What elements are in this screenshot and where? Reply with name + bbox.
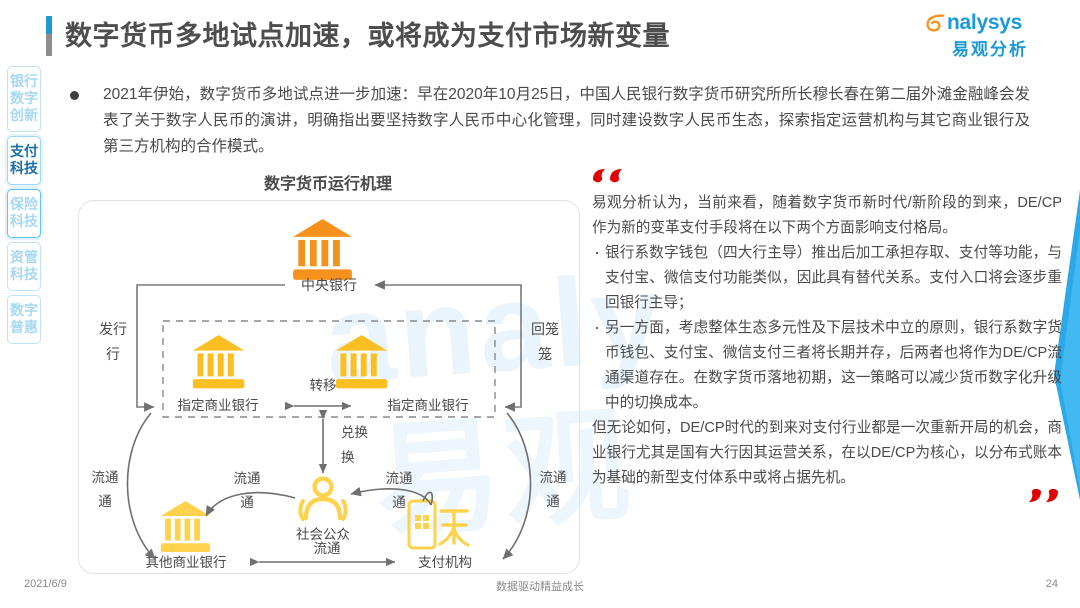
right-commentary-column: 易观分析认为，当前来看，随着数字货币新时代/新阶段的到来，DE/CP作为新的变革… <box>592 168 1062 510</box>
edge-label-issue: 发行 <box>99 321 127 337</box>
sidebar-item-payment-tech[interactable]: 支付科技 <box>7 136 41 185</box>
diagram-container: 数字货币运行机理 <box>78 170 578 570</box>
page-title: 数字货币多地试点加速，或将成为支付市场新变量 <box>46 16 670 56</box>
commentary-points: 银行系数字钱包（四大行主导）推出后加工承担存取、支付等功能，与支付宝、微信支付功… <box>592 241 1062 416</box>
central-bank-icon <box>293 219 352 280</box>
edge-label-withdraw: 回笼 <box>531 321 559 337</box>
commentary-intro: 易观分析认为，当前来看，随着数字货币新时代/新阶段的到来，DE/CP作为新的变革… <box>592 191 1062 241</box>
node-label-designated-bank-left: 指定商业银行 <box>178 398 259 413</box>
node-label-payment-org: 支付机构 <box>418 555 472 570</box>
diagram-svg: 中央银行 发行 行 回笼 笼 指定商业银行 <box>79 201 579 573</box>
edge-label-transfer: 转移 <box>310 378 337 393</box>
edge-label-circulate-left-2: 通 <box>98 494 112 509</box>
edge-label-circulate-mid-left: 流通 <box>234 471 261 486</box>
edge-label-circulate-mid-right-2: 通 <box>392 495 406 510</box>
edge-label-withdraw-2: 笼 <box>538 346 552 362</box>
other-bank-icon <box>161 501 210 552</box>
body-bullet-block: 2021年伊始，数字货币多地试点进一步加速：早在2020年10月25日，中国人民… <box>70 82 1030 160</box>
title-accent-bar <box>46 16 52 56</box>
footer-page-number: 24 <box>1046 578 1058 590</box>
logo-wordmark: nalysys <box>947 12 1022 34</box>
edge-label-circulate-bottom: 流通 <box>314 541 341 556</box>
commentary-point: 银行系数字钱包（四大行主导）推出后加工承担存取、支付等功能，与支付宝、微信支付功… <box>592 241 1062 316</box>
edge-label-exchange: 兑换 <box>341 425 368 440</box>
commentary-conclusion: 但无论如何，DE/CP时代的到来对支付行业都是一次重新开局的机会，商业银行尤其是… <box>592 416 1062 491</box>
edge-label-circulate-mid-left-2: 通 <box>240 495 254 510</box>
brand-logo: nalysys 易观分析 <box>924 12 1056 60</box>
analysys-swirl-icon <box>924 12 946 34</box>
sidebar-item-label: 支付科技 <box>8 143 40 177</box>
sidebar-item-bank-digital-innovation[interactable]: 银行数字创新 <box>7 66 41 132</box>
payment-org-icon <box>409 501 468 548</box>
diagram-card: 中央银行 发行 行 回笼 笼 指定商业银行 <box>78 200 580 574</box>
sidebar-item-label: 银行数字创新 <box>8 73 40 124</box>
node-label-other-bank: 其他商业银行 <box>146 555 227 570</box>
edge-label-exchange-2: 换 <box>341 450 355 465</box>
sidebar-item-insurance-tech[interactable]: 保险科技 <box>7 189 41 238</box>
slide-footer: 2021/6/9 数据驱动精益成长 24 <box>0 578 1080 598</box>
node-label-designated-bank-right: 指定商业银行 <box>388 398 469 413</box>
edge-label-circulate-right: 流通 <box>540 470 568 485</box>
public-people-icon <box>300 479 345 519</box>
edge-label-circulate-mid-right: 流通 <box>386 471 413 486</box>
sidebar-item-asset-management-tech[interactable]: 资管科技 <box>7 242 41 291</box>
slide-root: analy 易观 数字货币多地试点加速，或将成为支付市场新变量 nalysys … <box>0 0 1080 608</box>
bullet-dot-icon <box>70 91 79 100</box>
designated-bank-left-icon <box>193 335 245 388</box>
node-label-central-bank: 中央银行 <box>301 277 357 293</box>
quote-close-icon <box>592 489 1062 510</box>
sidebar-item-label: 保险科技 <box>8 196 40 230</box>
title-text: 数字货币多地试点加速，或将成为支付市场新变量 <box>65 23 670 50</box>
logo-chinese: 易观分析 <box>924 35 1056 60</box>
sidebar-item-digital-inclusive-finance[interactable]: 数字普惠 <box>7 295 41 344</box>
sidebar-item-label: 数字普惠 <box>8 302 40 336</box>
edge-label-issue-2: 行 <box>106 346 120 362</box>
footer-slogan: 数据驱动精益成长 <box>0 578 1080 594</box>
edge-label-circulate-right-2: 通 <box>546 494 560 509</box>
diagram-title: 数字货币运行机理 <box>78 170 578 194</box>
node-label-public: 社会公众 <box>296 527 350 542</box>
edge-label-circulate-left: 流通 <box>92 470 119 485</box>
commentary-point: 另一方面，考虑整体生态多元性及下层技术中立的原则，银行系数字货币钱包、支付宝、微… <box>592 316 1062 416</box>
sidebar-nav[interactable]: 银行数字创新 支付科技 保险科技 资管科技 数字普惠 <box>4 66 44 348</box>
designated-bank-right-icon <box>336 335 388 388</box>
sidebar-item-label: 资管科技 <box>8 249 40 283</box>
body-paragraph: 2021年伊始，数字货币多地试点进一步加速：早在2020年10月25日，中国人民… <box>103 82 1030 160</box>
quote-open-icon <box>592 168 1062 189</box>
